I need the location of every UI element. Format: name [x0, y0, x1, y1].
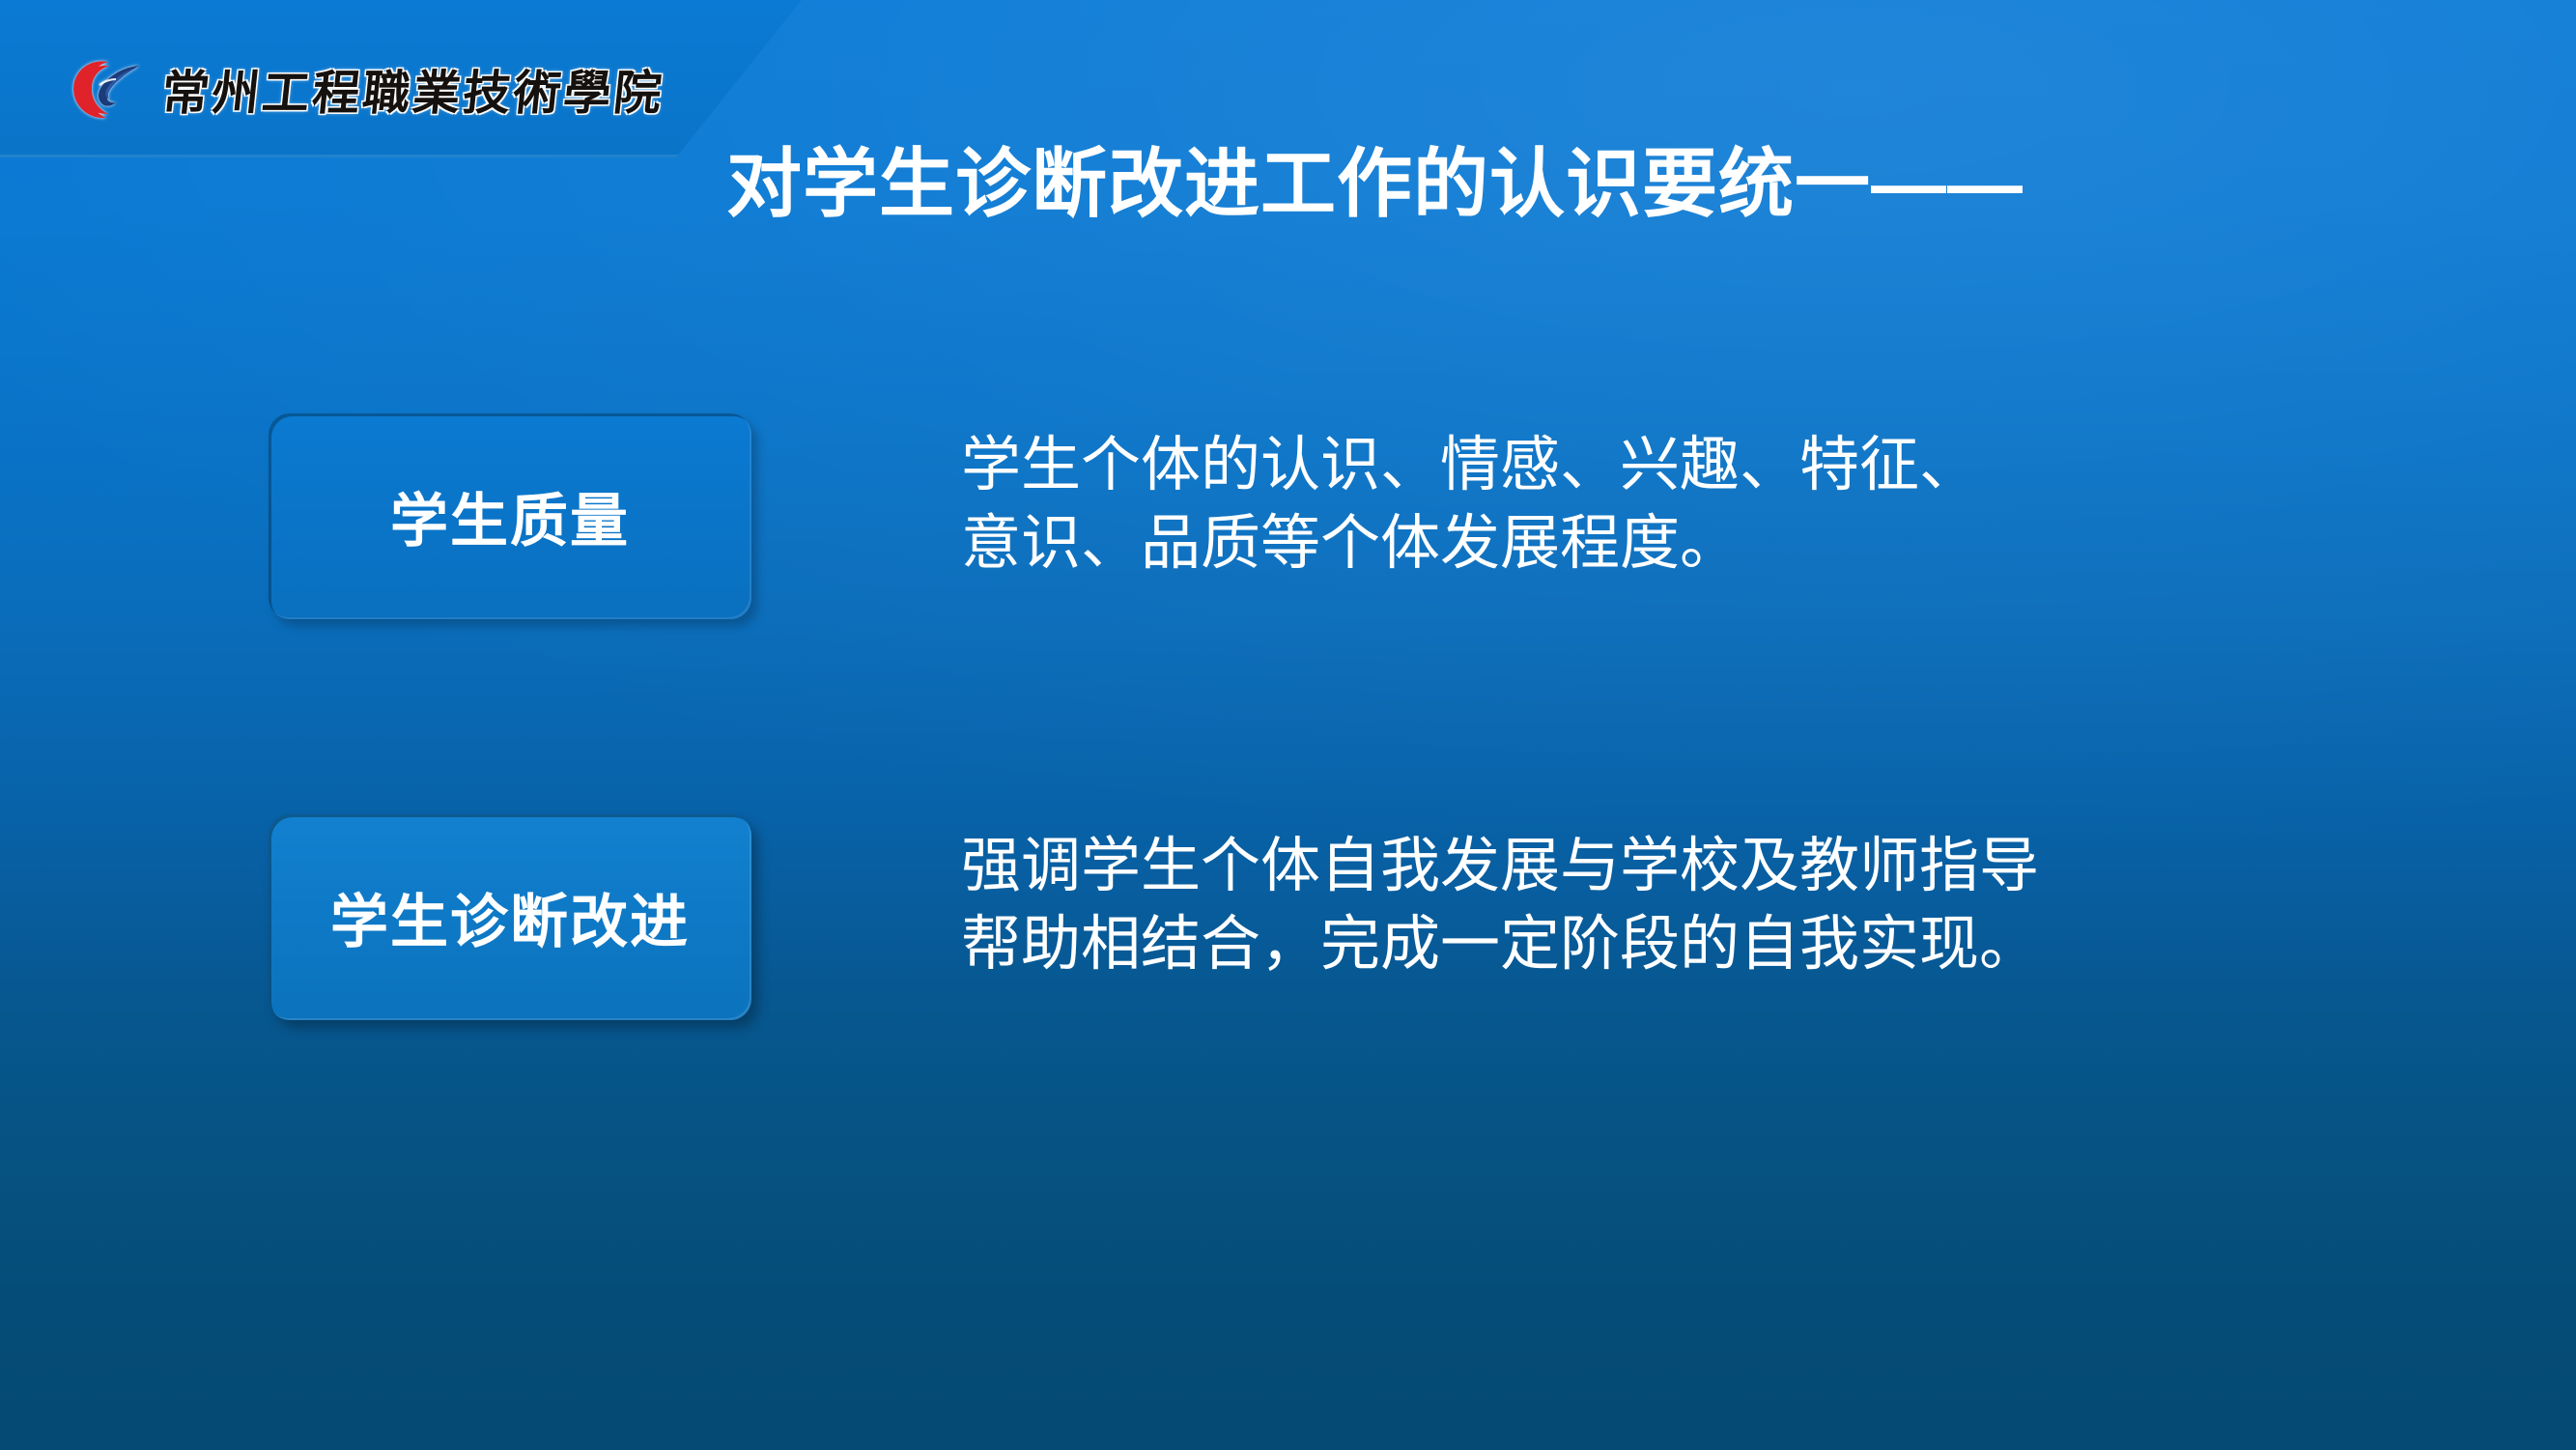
description-student-quality: 学生个体的认识、情感、兴趣、特征、 意识、品质等个体发展程度。 — [961, 427, 2429, 583]
changzhou-institute-emblem-icon — [66, 56, 145, 122]
description-student-diagnosis-improvement: 强调学生个体自我发展与学校及教师指导 帮助相结合，完成一定阶段的自我实现。 — [961, 828, 2429, 983]
category-pill-student-quality[interactable]: 学生质量 — [269, 413, 751, 619]
description-line: 学生个体的认识、情感、兴趣、特征、 — [961, 427, 2429, 505]
category-pill-student-diagnosis-improvement[interactable]: 学生诊断改进 — [269, 814, 751, 1020]
page-title: 对学生诊断改进工作的认识要统一—— — [0, 143, 2576, 226]
description-line: 意识、品质等个体发展程度。 — [961, 505, 2429, 583]
institution-name: 常州工程職業技術學院 — [158, 55, 667, 124]
slide-canvas: 常州工程職業技術學院 对学生诊断改进工作的认识要统一—— 学生质量 学生个体的认… — [0, 0, 2576, 1450]
description-line: 帮助相结合，完成一定阶段的自我实现。 — [961, 906, 2429, 984]
description-line: 强调学生个体自我发展与学校及教师指导 — [961, 828, 2429, 906]
institution-logo: 常州工程職業技術學院 — [66, 54, 665, 124]
